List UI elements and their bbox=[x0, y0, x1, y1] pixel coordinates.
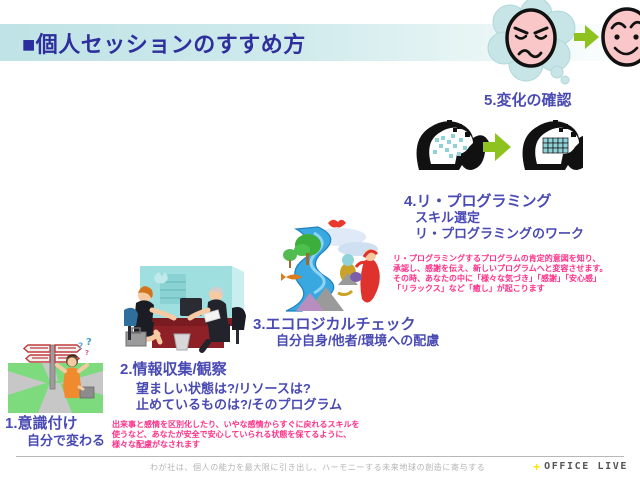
slide-canvas: ■個人セッションのすすめ方 bbox=[0, 0, 640, 477]
footer-divider bbox=[16, 456, 624, 457]
step1-subline-1: 自分で変わる bbox=[27, 433, 105, 449]
step4-note-line-3: その時、あなたの中に「様々な気づき」「感謝」「安心感」 bbox=[393, 274, 601, 285]
step4-note-line-4: 「リラックス」など「癒し」が起こります bbox=[393, 284, 545, 295]
svg-text:?: ? bbox=[78, 342, 83, 352]
title-bullet-icon: ■ bbox=[22, 32, 36, 57]
office-meeting-illustration bbox=[112, 248, 257, 353]
office-live-logo: + OFFICE LIVE bbox=[533, 461, 628, 472]
step1-note-line-3: 様々な配慮がなされます bbox=[112, 440, 200, 451]
smiling-face-icon bbox=[603, 9, 640, 65]
step1-note-line-1: 出来事と感情を区別化したり、いやな感情からすぐに戻れるスキルを bbox=[112, 420, 360, 431]
step2-subline-2: 止めているものは?/そのプログラム bbox=[136, 397, 342, 413]
page-title: ■個人セッションのすすめ方 bbox=[22, 27, 306, 59]
step3-heading: 3.エコロジカルチェック bbox=[253, 313, 416, 334]
step4-subline-1: スキル選定 bbox=[415, 210, 480, 226]
step4-subline-2: リ・プログラミングのワーク bbox=[415, 226, 584, 242]
footer-tagline: わが社は、個人の能力を最大限に引き出し、ハーモニーする未来地球の創造に寄与する bbox=[150, 462, 485, 473]
people-group-icon bbox=[338, 249, 380, 303]
step3-subline-1: 自分自身/他者/環境への配慮 bbox=[276, 333, 439, 349]
svg-text:?: ? bbox=[85, 349, 89, 357]
title-text: 個人セッションのすすめ方 bbox=[36, 32, 306, 57]
svg-text:?: ? bbox=[86, 337, 92, 348]
angry-face-icon bbox=[507, 10, 555, 66]
step4-heading: 4.リ・プログラミング bbox=[404, 190, 552, 211]
step2-subline-1: 望ましい状態は?/リソースは? bbox=[136, 381, 311, 397]
head-scattered-pixels-icon bbox=[417, 120, 490, 170]
step5-heading: 5.変化の確認 bbox=[484, 89, 572, 110]
step1-heading: 1.意識付け bbox=[5, 412, 78, 433]
plus-icon: + bbox=[533, 462, 540, 472]
head-ordered-grid-icon bbox=[523, 120, 583, 170]
green-arrow-icon bbox=[483, 133, 511, 161]
step4-note-line-2: 承認し、感謝を伝え、新しいプログラムへと変容させます。 bbox=[393, 264, 608, 275]
nature-river-people-illustration bbox=[278, 215, 390, 320]
step2-heading: 2.情報収集/観察 bbox=[120, 358, 227, 379]
green-arrow-icon bbox=[574, 25, 599, 49]
signpost-crossroads-illustration: ? ? ? bbox=[8, 335, 103, 413]
logo-text: OFFICE LIVE bbox=[544, 461, 628, 472]
brain-reprogramming-heads-illustration bbox=[403, 112, 583, 184]
step1-note-line-2: 使うなど、あなたが安全で安心していられる状態を保てるように、 bbox=[112, 430, 351, 441]
step4-note-line-1: リ・プログラミングするプログラムの肯定的意図を知り、 bbox=[393, 254, 600, 265]
angry-to-smiling-face-illustration bbox=[462, 0, 640, 90]
